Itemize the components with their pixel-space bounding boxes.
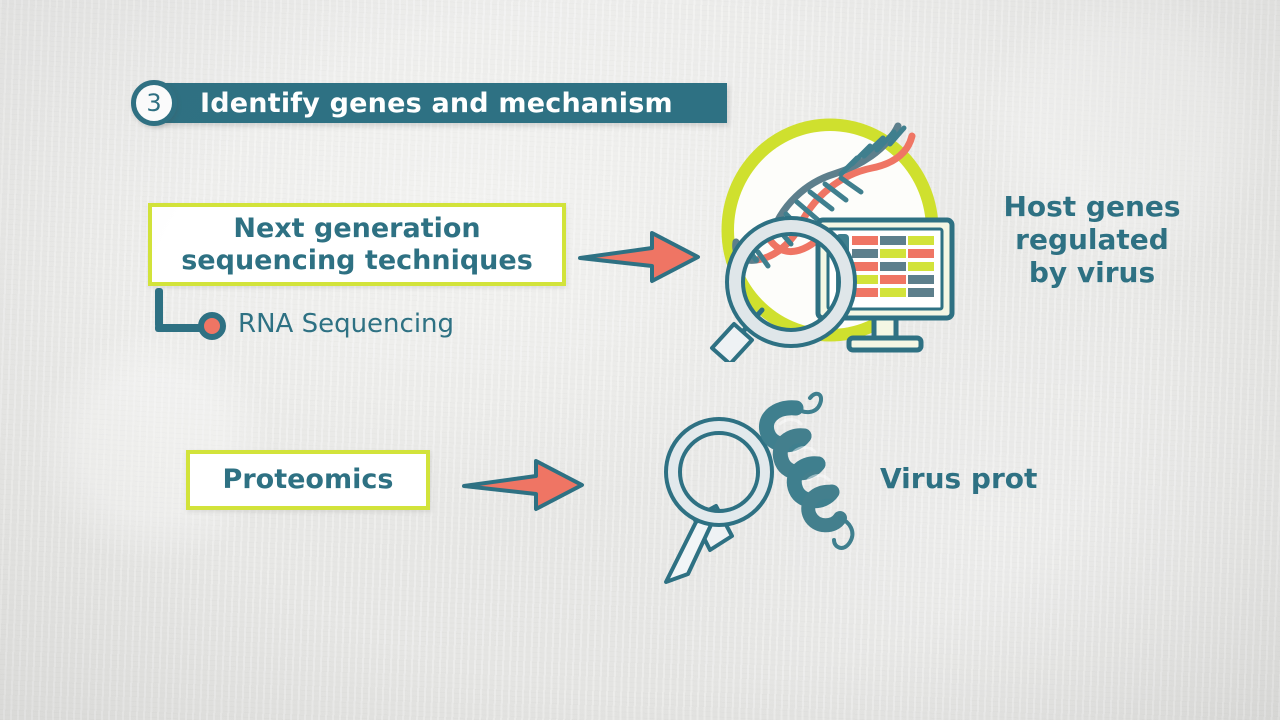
method-box-label: Next generation sequencing techniques — [181, 213, 533, 276]
heatmap-bar — [880, 249, 906, 258]
magnifier-protein-helix-icon — [644, 386, 896, 592]
method-label-line-1: Next generation — [181, 213, 533, 244]
method-box-label: Proteomics — [223, 464, 394, 495]
protein-helix-icon — [766, 394, 852, 548]
heatmap-bar — [908, 236, 934, 245]
caption-line-1: Virus prot — [880, 462, 1080, 495]
heatmap-bar — [880, 236, 906, 245]
result-caption-host-genes: Host genes regulated by virus — [976, 190, 1208, 289]
method-box-next-generation-sequencing[interactable]: Next generation sequencing techniques — [148, 203, 566, 286]
result-caption-virus-protein: Virus prot — [880, 462, 1080, 495]
bullet-dot-icon — [198, 312, 226, 340]
step-number-label: 3 — [136, 85, 172, 121]
method-box-proteomics[interactable]: Proteomics — [186, 450, 430, 510]
heatmap-bar — [880, 288, 906, 297]
heatmap-bar — [880, 262, 906, 271]
step-number-badge: 3 — [131, 80, 177, 126]
heatmap-bar — [880, 275, 906, 284]
right-arrow-icon — [578, 228, 702, 286]
caption-line-2: regulated — [976, 223, 1208, 256]
caption-line-1: Host genes — [976, 190, 1208, 223]
right-arrow-icon — [462, 456, 586, 514]
method-label-line-2: sequencing techniques — [181, 245, 533, 276]
elbow-vertical-segment — [155, 288, 163, 328]
page-title: Identify genes and mechanism — [200, 84, 720, 124]
magnifier-icon — [654, 419, 772, 582]
heatmap-bar — [908, 262, 934, 271]
heatmap-bar — [908, 249, 934, 258]
heatmap-bar — [908, 288, 934, 297]
dna-monitor-magnifier-icon — [694, 112, 962, 362]
heatmap-bar — [852, 262, 878, 271]
slide-canvas: Identify genes and mechanism 3 Next gene… — [0, 0, 1280, 720]
heatmap-bar — [908, 275, 934, 284]
heatmap-bar — [852, 249, 878, 258]
sub-item-rna-sequencing: RNA Sequencing — [238, 309, 454, 339]
caption-line-3: by virus — [976, 256, 1208, 289]
heatmap-bar — [852, 236, 878, 245]
